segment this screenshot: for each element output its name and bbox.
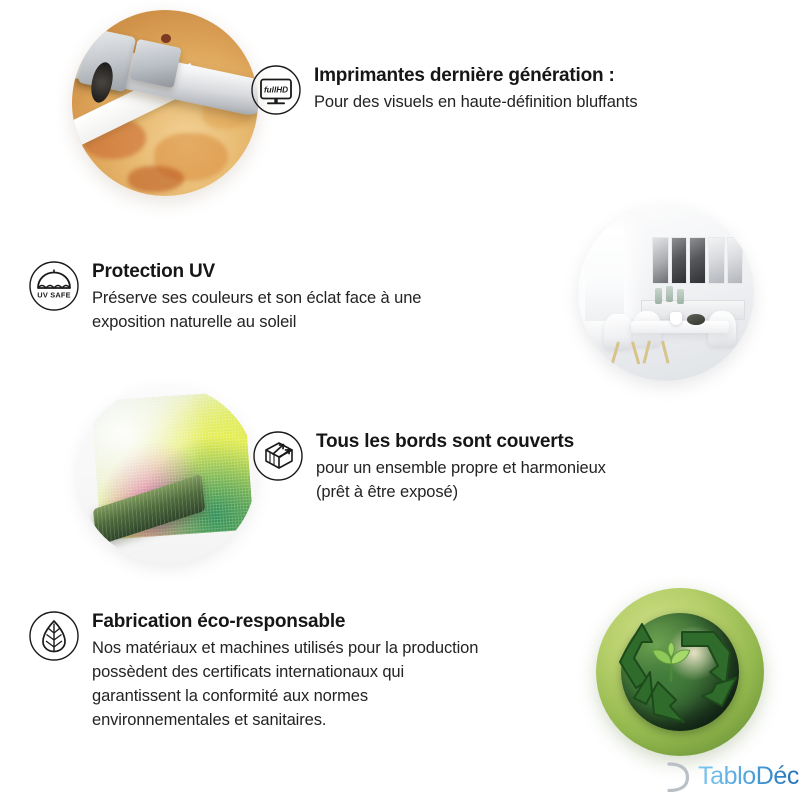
feature-covered-edges: Tous les bords sont couverts pour un ens… [252, 428, 606, 505]
uv-safe-parasol-icon: UV SAFE [28, 260, 80, 312]
product-features-infographic: fullHD Imprimantes dernière génération :… [0, 0, 800, 800]
brand-logo[interactable]: TabloDéco ™ .fr [652, 756, 800, 796]
feature-eco-manufacturing: Fabrication éco-responsable Nos matériau… [28, 608, 478, 732]
green-earth-recycling-photo [596, 588, 764, 756]
dining-room-interior-photo [578, 205, 754, 381]
feature-description: pour un ensemble propre et harmonieux (p… [316, 457, 606, 505]
large-format-printer-photo [72, 10, 258, 196]
feature-description: Nos matériaux et machines utilisés pour … [92, 637, 478, 733]
canvas-corner-photo [78, 385, 256, 563]
td-monogram-icon [652, 756, 692, 796]
feature-description: Préserve ses couleurs et son éclat face … [92, 287, 421, 335]
feature-title: Protection UV [92, 260, 421, 284]
leaf-icon [28, 610, 80, 662]
fullhd-monitor-icon: fullHD [250, 64, 302, 116]
brand-name: TabloDéco [698, 762, 800, 790]
feature-uv-protection: UV SAFE Protection UV Préserve ses coule… [28, 258, 421, 335]
wrapped-canvas-edge-icon [252, 430, 304, 482]
feature-title: Imprimantes dernière génération : [314, 64, 637, 88]
feature-print-quality: fullHD Imprimantes dernière génération :… [250, 62, 637, 116]
brand-wordmark: TabloDéco ™ [698, 764, 800, 789]
feature-title: Tous les bords sont couverts [316, 430, 606, 454]
svg-text:UV SAFE: UV SAFE [37, 291, 70, 300]
feature-description: Pour des visuels en haute-définition blu… [314, 91, 637, 115]
svg-text:fullHD: fullHD [264, 85, 288, 94]
feature-title: Fabrication éco-responsable [92, 610, 478, 634]
